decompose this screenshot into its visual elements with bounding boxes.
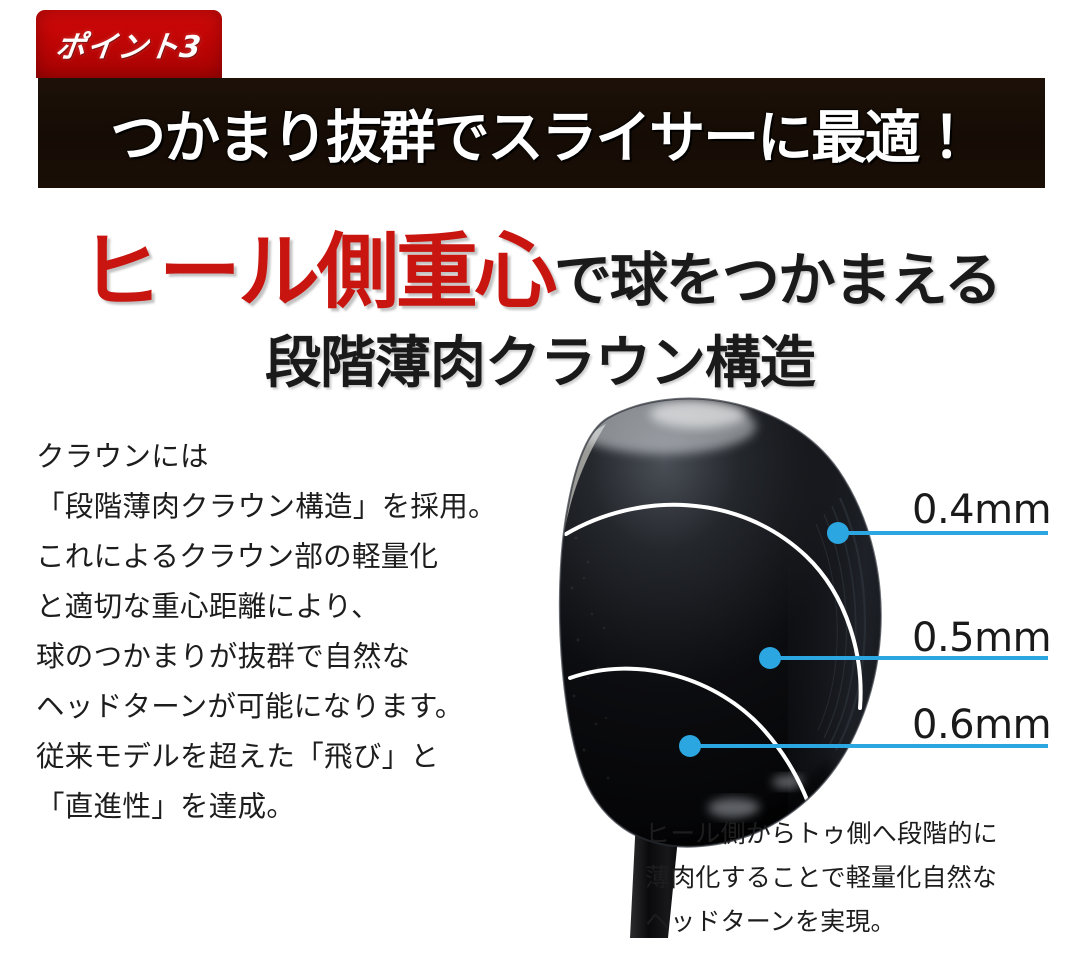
caption-line: ヘッドターンを実現。 bbox=[645, 900, 1075, 944]
caption-line: ヒール側からトゥ側へ段階的に bbox=[645, 812, 1075, 856]
poster-canvas: 0.4mm 0.5mm 0.6mm ポイント3 つかまり抜群でスライサーに最適！… bbox=[0, 0, 1080, 959]
image-caption: ヒール側からトゥ側へ段階的に 薄肉化することで軽量化自然な ヘッドターンを実現。 bbox=[645, 812, 1075, 944]
callout-label-0-6mm: 0.6mm bbox=[912, 702, 1051, 748]
callout-label-0-4mm: 0.4mm bbox=[912, 487, 1051, 533]
caption-line: 薄肉化することで軽量化自然な bbox=[645, 856, 1075, 900]
callout-label-0-5mm: 0.5mm bbox=[912, 615, 1051, 661]
